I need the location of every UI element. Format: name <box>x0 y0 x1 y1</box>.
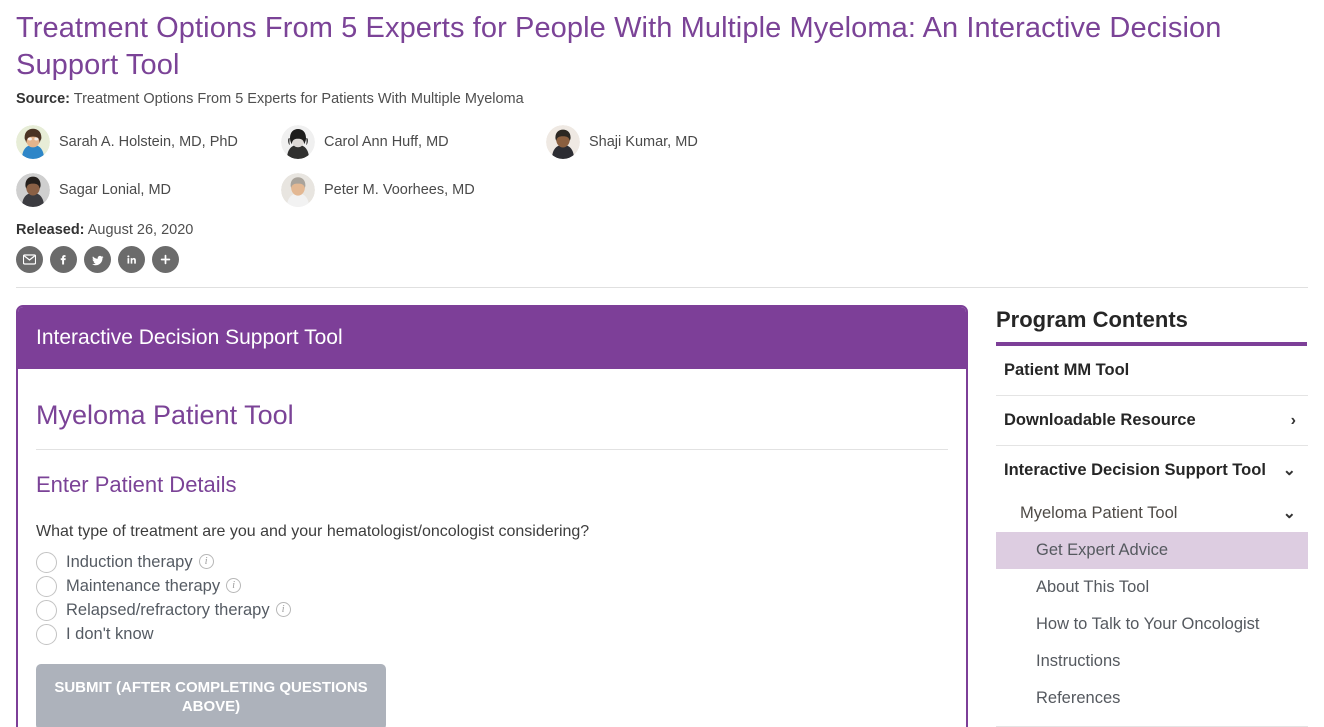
radio-label: Maintenance therapy <box>66 576 220 597</box>
sidebar-leaf-label: Get Expert Advice <box>1036 541 1168 559</box>
radio-circle[interactable] <box>36 552 57 573</box>
sidebar-subitem-myeloma-patient-tool[interactable]: Myeloma Patient Tool ⌄ <box>996 495 1308 532</box>
avatar <box>281 173 315 207</box>
treatment-type-radio-group: Induction therapy i Maintenance therapy … <box>36 550 948 646</box>
author-list: Sarah A. Holstein, MD, PhD Carol Ann Huf… <box>16 120 1016 216</box>
radio-label: Relapsed/refractory therapy <box>66 600 270 621</box>
info-icon[interactable]: i <box>199 554 214 569</box>
sidebar-item-interactive-decision-support-tool[interactable]: Interactive Decision Support Tool ⌄ <box>996 446 1308 495</box>
chevron-down-icon[interactable]: ⌄ <box>1283 463 1296 479</box>
sidebar-item-patient-mm-tool[interactable]: Patient MM Tool <box>996 346 1308 396</box>
facebook-icon[interactable] <box>50 246 77 273</box>
radio-circle[interactable] <box>36 624 57 645</box>
source-value: Treatment Options From 5 Experts for Pat… <box>74 91 524 107</box>
avatar <box>281 125 315 159</box>
sidebar-leaf-label: References <box>1036 689 1120 707</box>
released-value: August 26, 2020 <box>88 222 194 238</box>
author-name: Peter M. Voorhees, MD <box>324 182 475 198</box>
radio-circle[interactable] <box>36 600 57 621</box>
info-icon[interactable]: i <box>226 578 241 593</box>
twitter-icon[interactable] <box>84 246 111 273</box>
author-item[interactable]: Shaji Kumar, MD <box>546 120 811 164</box>
author-name: Shaji Kumar, MD <box>589 134 698 150</box>
radio-label: Induction therapy <box>66 552 193 573</box>
source-line: Source: Treatment Options From 5 Experts… <box>16 90 1308 108</box>
chevron-right-icon[interactable]: › <box>1291 413 1296 429</box>
author-item[interactable]: Peter M. Voorhees, MD <box>281 168 546 212</box>
page-title: Treatment Options From 5 Experts for Peo… <box>16 10 1308 84</box>
sidebar-item-downloadable-resource[interactable]: Downloadable Resource › <box>996 396 1308 446</box>
avatar <box>546 125 580 159</box>
social-share-bar <box>16 246 1308 273</box>
sidebar-leaf-get-expert-advice[interactable]: Get Expert Advice <box>996 532 1308 569</box>
author-item[interactable]: Sagar Lonial, MD <box>16 168 281 212</box>
tool-heading-divider <box>36 449 948 450</box>
sidebar-leaf-instructions[interactable]: Instructions <box>996 643 1308 680</box>
sidebar-item-label: Interactive Decision Support Tool <box>1004 461 1266 480</box>
sidebar-subitem-label: Myeloma Patient Tool <box>1020 504 1177 523</box>
released-line: Released: August 26, 2020 <box>16 222 1308 238</box>
radio-option-i-dont-know[interactable]: I don't know <box>36 622 948 646</box>
tool-card-body: Myeloma Patient Tool Enter Patient Detai… <box>18 369 966 727</box>
sidebar-leaf-label: About This Tool <box>1036 578 1149 596</box>
tool-card-header: Interactive Decision Support Tool <box>18 307 966 369</box>
sidebar-item-label: Patient MM Tool <box>1004 361 1129 380</box>
author-name: Sagar Lonial, MD <box>59 182 171 198</box>
radio-option-induction-therapy[interactable]: Induction therapy i <box>36 550 948 574</box>
source-label: Source: <box>16 91 70 107</box>
interactive-tool-card: Interactive Decision Support Tool Myelom… <box>16 305 968 727</box>
author-item[interactable]: Sarah A. Holstein, MD, PhD <box>16 120 281 164</box>
more-share-icon[interactable] <box>152 246 179 273</box>
author-name: Carol Ann Huff, MD <box>324 134 449 150</box>
email-icon[interactable] <box>16 246 43 273</box>
sidebar-leaf-about-this-tool[interactable]: About This Tool <box>996 569 1308 606</box>
radio-option-maintenance-therapy[interactable]: Maintenance therapy i <box>36 574 948 598</box>
author-name: Sarah A. Holstein, MD, PhD <box>59 134 238 150</box>
chevron-down-icon[interactable]: ⌄ <box>1283 506 1296 522</box>
page-root: Treatment Options From 5 Experts for Peo… <box>0 0 1324 727</box>
tool-heading: Myeloma Patient Tool <box>36 399 948 431</box>
sidebar-leaf-label: How to Talk to Your Oncologist <box>1036 615 1260 633</box>
sidebar-leaf-label: Instructions <box>1036 652 1120 670</box>
radio-circle[interactable] <box>36 576 57 597</box>
tool-subheading: Enter Patient Details <box>36 472 948 498</box>
sidebar-title: Program Contents <box>996 307 1308 333</box>
radio-option-relapsed-refractory-therapy[interactable]: Relapsed/refractory therapy i <box>36 598 948 622</box>
info-icon[interactable]: i <box>276 602 291 617</box>
sidebar-leaf-how-to-talk-to-your-oncologist[interactable]: How to Talk to Your Oncologist <box>996 606 1308 643</box>
page-header: Treatment Options From 5 Experts for Peo… <box>0 0 1324 273</box>
content-area: Interactive Decision Support Tool Myelom… <box>0 288 1324 727</box>
submit-button[interactable]: SUBMIT (AFTER COMPLETING QUESTIONS ABOVE… <box>36 664 386 727</box>
released-label: Released: <box>16 222 85 238</box>
avatar <box>16 125 50 159</box>
question-text: What type of treatment are you and your … <box>36 522 948 542</box>
linkedin-icon[interactable] <box>118 246 145 273</box>
sidebar-leaf-references[interactable]: References <box>996 680 1308 717</box>
program-contents-sidebar: Program Contents Patient MM Tool Downloa… <box>996 305 1308 727</box>
sidebar-item-label: Downloadable Resource <box>1004 411 1196 430</box>
radio-label: I don't know <box>66 624 154 645</box>
author-item[interactable]: Carol Ann Huff, MD <box>281 120 546 164</box>
avatar <box>16 173 50 207</box>
